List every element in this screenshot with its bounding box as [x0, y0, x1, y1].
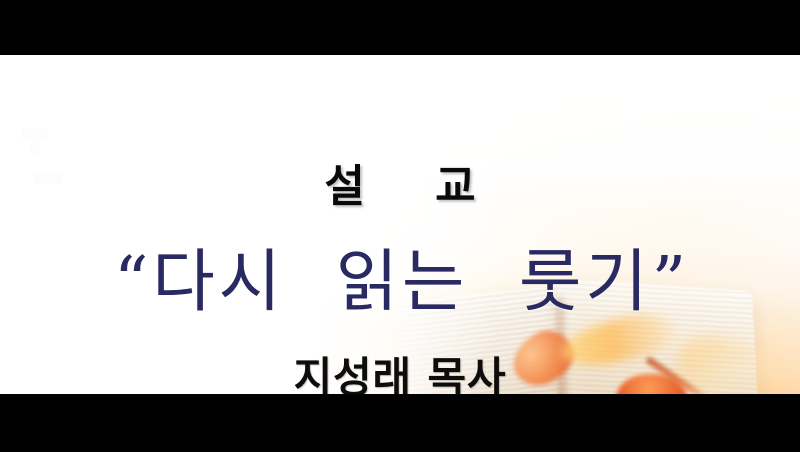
letterbox-bar-top	[0, 0, 800, 55]
video-frame: 설 교 “다시 읽는 룻기” 지성래 목사	[0, 0, 800, 452]
sermon-label: 설 교	[0, 161, 800, 213]
speaker-name-label: 지성래 목사	[0, 353, 800, 394]
sermon-title: “다시 읽는 룻기”	[0, 241, 800, 325]
presentation-slide: 설 교 “다시 읽는 룻기” 지성래 목사	[0, 55, 800, 394]
letterbox-bar-bottom	[0, 394, 800, 452]
slide-text-block: 설 교 “다시 읽는 룻기” 지성래 목사	[0, 55, 800, 394]
